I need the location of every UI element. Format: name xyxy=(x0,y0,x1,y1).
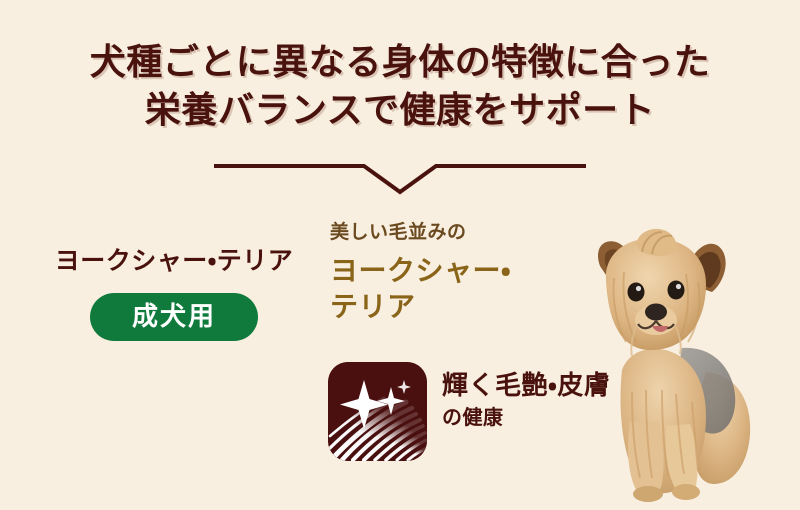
feature-title: ヨークシャー・ テリア xyxy=(330,253,590,325)
divider-with-arrow xyxy=(214,162,586,196)
breed-block: ヨークシャー・テリア 成犬用 xyxy=(24,248,324,341)
page-title: 犬種ごとに異なる身体の特徴に合った 栄養バランスで健康をサポート xyxy=(0,38,800,134)
status-badge-age: 成犬用 xyxy=(90,293,258,342)
sparkle-coat-icon xyxy=(328,362,427,461)
feature-title-line-2: テリア xyxy=(330,289,590,325)
headline-line-1: 犬種ごとに異なる身体の特徴に合った xyxy=(0,38,800,86)
feature-kicker: 美しい毛並みの xyxy=(330,222,590,245)
promo-banner: 犬種ごとに異なる身体の特徴に合った 栄養バランスで健康をサポート ヨークシャー・… xyxy=(0,0,800,510)
feature-title-line-1: ヨークシャー・ xyxy=(330,253,590,289)
dog-photo xyxy=(556,222,800,510)
headline-line-2: 栄養バランスで健康をサポート xyxy=(0,86,800,134)
breed-name-label: ヨークシャー・テリア xyxy=(24,248,324,276)
feature-block: 美しい毛並みの ヨークシャー・ テリア xyxy=(330,222,590,324)
